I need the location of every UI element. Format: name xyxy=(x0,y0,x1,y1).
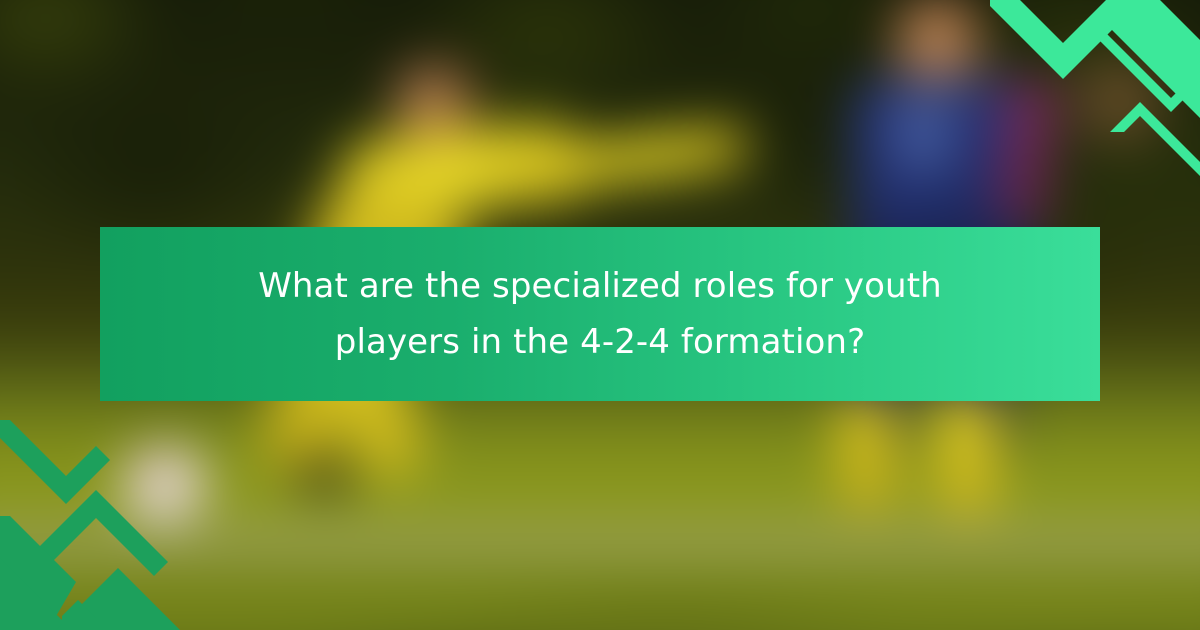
question-text: What are the specialized roles for youth… xyxy=(250,258,950,370)
question-card: What are the specialized roles for youth… xyxy=(0,0,1200,630)
question-banner: What are the specialized roles for youth… xyxy=(100,227,1100,401)
